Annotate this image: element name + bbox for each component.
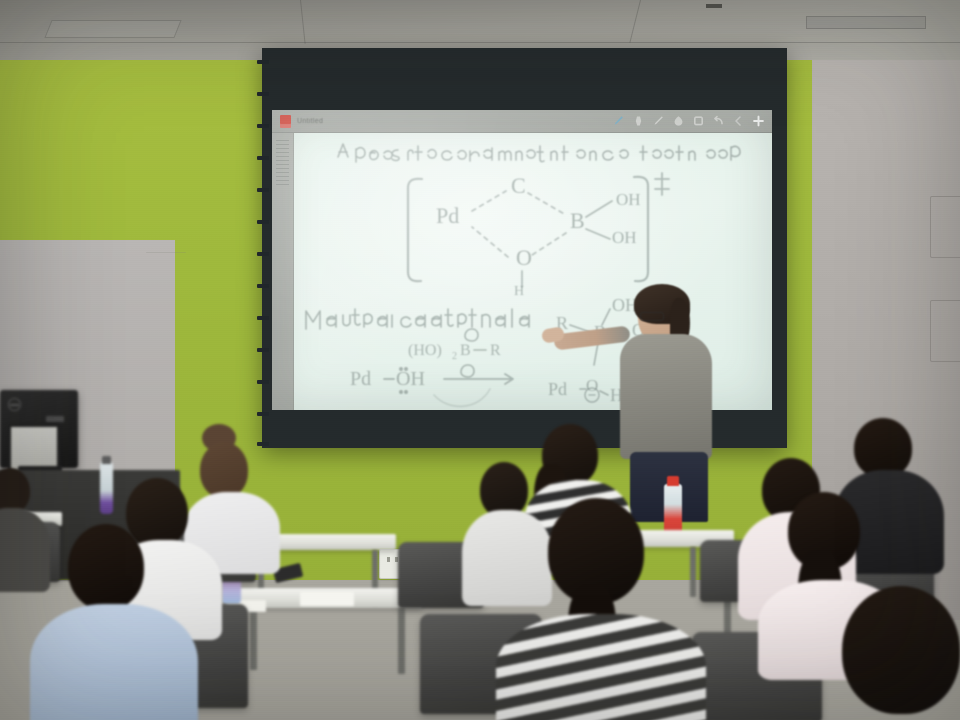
svg-text:B: B xyxy=(460,342,471,359)
shapes-icon[interactable] xyxy=(693,115,704,127)
student xyxy=(832,586,960,720)
svg-text:O: O xyxy=(586,376,598,395)
glasses-icon xyxy=(640,312,664,321)
bottle-cap xyxy=(102,456,111,464)
app-titlebar: Untitled xyxy=(272,110,772,133)
svg-text:O: O xyxy=(516,245,532,270)
svg-text:Pd: Pd xyxy=(548,379,567,399)
monitor-badge xyxy=(46,416,64,422)
desk-leg xyxy=(398,608,405,674)
svg-text:C: C xyxy=(511,173,526,198)
page-thumbnails-rail[interactable] xyxy=(272,133,294,410)
pencil-icon[interactable] xyxy=(653,115,664,127)
classroom-photo: Untitled xyxy=(0,0,960,720)
app-toolbar[interactable] xyxy=(613,115,764,127)
svg-text:OH: OH xyxy=(396,368,425,390)
svg-text:R: R xyxy=(490,342,501,359)
student xyxy=(502,498,692,720)
svg-text:Pd: Pd xyxy=(350,368,371,390)
undo-icon[interactable] xyxy=(713,115,724,127)
eraser-icon[interactable] xyxy=(673,115,684,127)
ceiling-vent xyxy=(806,16,926,29)
app-logo-icon xyxy=(280,115,291,128)
svg-text:Pd: Pd xyxy=(436,203,459,228)
presenter-torso xyxy=(620,334,712,459)
svg-text:(HO): (HO) xyxy=(408,342,442,359)
notebook xyxy=(300,592,354,606)
ceiling-panel xyxy=(44,20,181,38)
svg-text:B: B xyxy=(570,208,585,233)
svg-text:OH: OH xyxy=(616,190,641,209)
pen-icon[interactable] xyxy=(613,115,624,127)
bottle-cap xyxy=(667,476,679,486)
student xyxy=(40,524,180,720)
ceiling-fixture xyxy=(706,4,722,8)
add-icon[interactable] xyxy=(753,115,764,127)
svg-text:2: 2 xyxy=(452,351,457,362)
ceiling-seam xyxy=(0,42,960,43)
dell-logo-icon xyxy=(8,398,21,411)
back-icon[interactable] xyxy=(733,115,744,127)
wall-seam xyxy=(146,252,186,253)
wall-panel xyxy=(930,196,960,258)
app-title: Untitled xyxy=(297,118,323,125)
desk-leg xyxy=(250,608,257,670)
svg-text:OH: OH xyxy=(612,228,637,247)
marker-icon[interactable] xyxy=(633,115,644,127)
screen-tension-tabs xyxy=(257,56,267,448)
wall-panel xyxy=(930,300,960,362)
